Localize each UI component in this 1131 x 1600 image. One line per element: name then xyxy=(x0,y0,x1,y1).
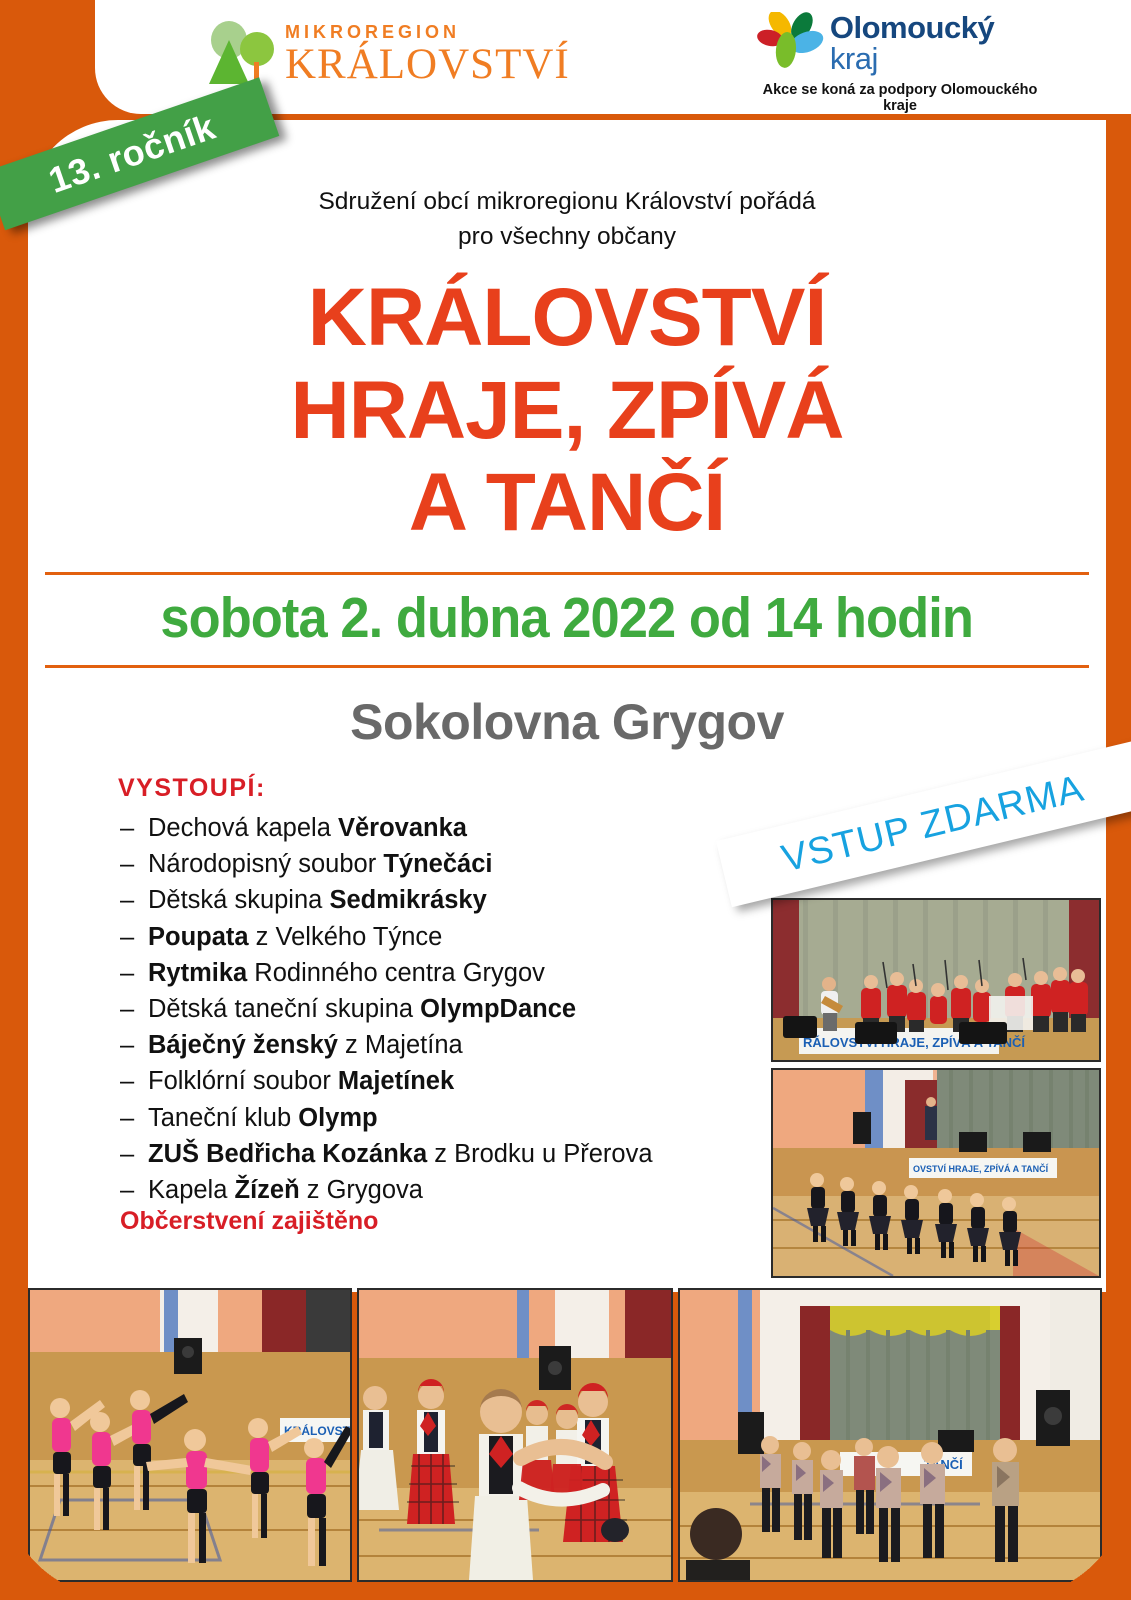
performer-bullet: – xyxy=(120,846,148,882)
two-trees-icon xyxy=(205,20,275,88)
performer-item: –Báječný ženský z Majetína xyxy=(120,1027,740,1063)
performer-text-before: Folklórní soubor xyxy=(148,1067,338,1095)
performer-text-before: Dětská skupina xyxy=(148,886,329,914)
performer-text-before: Dechová kapela xyxy=(148,814,338,842)
olomoucky-kraj-wordmark: Olomoucký kraj xyxy=(830,12,1050,74)
event-venue: Sokolovna Grygov xyxy=(28,693,1106,751)
olomoucky-kraj-support-text: Akce se koná za podpory Olomouckého kraj… xyxy=(750,82,1050,114)
performer-bullet: – xyxy=(120,882,148,918)
mikroregion-logo-line1: MIKROREGION xyxy=(285,23,570,41)
performer-name: Majetínek xyxy=(338,1067,454,1095)
corner-curve-bottom-right xyxy=(1011,1480,1131,1600)
performer-bullet: – xyxy=(120,1100,148,1136)
title-line-2: HRAJE, ZPÍVÁ xyxy=(28,365,1106,458)
performer-name: Olymp xyxy=(298,1104,377,1132)
performer-bullet: – xyxy=(120,1172,148,1208)
olomoucky-kraj-name-bold: Olomoucký xyxy=(830,10,994,45)
performer-name: Žízeň xyxy=(235,1176,300,1204)
performer-text-after: z Grygova xyxy=(300,1176,423,1204)
photo-girls-black-dresses: OVSTVÍ HRAJE, ZPÍVÁ A TANČÍ xyxy=(771,1068,1101,1278)
performer-name: OlympDance xyxy=(420,995,576,1023)
performer-text-after: z Brodku u Přerova xyxy=(427,1140,652,1168)
mikroregion-kralovstvi-logo: MIKROREGION KRÁLOVSTVÍ xyxy=(205,20,570,88)
mikroregion-logo-line2: KRÁLOVSTVÍ xyxy=(285,43,570,86)
performer-bullet: – xyxy=(120,1027,148,1063)
photo-folk-women-red-tartan xyxy=(357,1288,673,1582)
performer-bullet: – xyxy=(120,955,148,991)
performer-item: –Dechová kapela Věrovanka xyxy=(120,810,740,846)
performer-item: –Rytmika Rodinného centra Grygov xyxy=(120,955,740,991)
performer-text-before: Taneční klub xyxy=(148,1104,298,1132)
event-date-band: sobota 2. dubna 2022 od 14 hodin xyxy=(45,572,1089,668)
five-petal-flower-icon xyxy=(750,12,824,74)
page-title: KRÁLOVSTVÍ HRAJE, ZPÍVÁ A TANČÍ xyxy=(28,272,1106,550)
performer-item: –Dětská skupina Sedmikrásky xyxy=(120,882,740,918)
performer-bullet: – xyxy=(120,1136,148,1172)
performer-item: –Kapela Žízeň z Grygova xyxy=(120,1172,740,1208)
performer-text-before: Národopisný soubor xyxy=(148,850,383,878)
performer-text-before: Dětská taneční skupina xyxy=(148,995,420,1023)
performer-text-after: z Majetína xyxy=(338,1031,463,1059)
olomoucky-kraj-logo: Olomoucký kraj Akce se koná za podpory O… xyxy=(750,12,1050,114)
performer-name: ZUŠ Bedřicha Kozánka xyxy=(148,1140,427,1168)
performer-name: Rytmika xyxy=(148,959,247,987)
performer-text-after: z Velkého Týnce xyxy=(249,923,443,951)
poster-root: { "colors": { "background_orange": "#d95… xyxy=(0,0,1131,1600)
photo-choir-on-stage: RÁLOVSTVÍ HRAJE, ZPÍVÁ A TANČÍ xyxy=(771,898,1101,1062)
performer-text-before: Kapela xyxy=(148,1176,235,1204)
performer-name: Týnečáci xyxy=(383,850,492,878)
performer-item: –Taneční klub Olymp xyxy=(120,1100,740,1136)
performer-text-after: Rodinného centra Grygov xyxy=(247,959,545,987)
title-line-3: A TANČÍ xyxy=(28,457,1106,550)
performer-item: –ZUŠ Bedřicha Kozánka z Brodku u Přerova xyxy=(120,1136,740,1172)
performer-name: Věrovanka xyxy=(338,814,467,842)
intro-line-1: Sdružení obcí mikroregionu Království po… xyxy=(28,185,1106,220)
intro-text: Sdružení obcí mikroregionu Království po… xyxy=(28,185,1106,255)
event-date-text: sobota 2. dubna 2022 od 14 hodin xyxy=(161,585,974,651)
title-line-1: KRÁLOVSTVÍ xyxy=(28,272,1106,365)
performer-item: –Folklórní soubor Majetínek xyxy=(120,1063,740,1099)
olomoucky-kraj-name-light: kraj xyxy=(830,41,878,76)
refreshments-note: Občerstvení zajištěno xyxy=(120,1207,378,1236)
performer-name: Báječný ženský xyxy=(148,1031,338,1059)
performer-item: –Dětská taneční skupina OlympDance xyxy=(120,991,740,1027)
performer-item: –Poupata z Velkého Týnce xyxy=(120,919,740,955)
intro-line-2: pro všechny občany xyxy=(28,220,1106,255)
performers-list: –Dechová kapela Věrovanka–Národopisný so… xyxy=(120,810,740,1208)
performer-bullet: – xyxy=(120,1063,148,1099)
corner-curve-bottom-left xyxy=(0,1480,120,1600)
performer-bullet: – xyxy=(120,919,148,955)
performers-heading: VYSTOUPÍ: xyxy=(118,774,266,803)
performer-name: Poupata xyxy=(148,923,249,951)
performer-bullet: – xyxy=(120,991,148,1027)
performer-item: –Národopisný soubor Týnečáci xyxy=(120,846,740,882)
performer-name: Sedmikrásky xyxy=(329,886,486,914)
performer-bullet: – xyxy=(120,810,148,846)
svg-text:OVSTVÍ HRAJE, ZPÍVÁ A TANČÍ: OVSTVÍ HRAJE, ZPÍVÁ A TANČÍ xyxy=(913,1163,1049,1174)
